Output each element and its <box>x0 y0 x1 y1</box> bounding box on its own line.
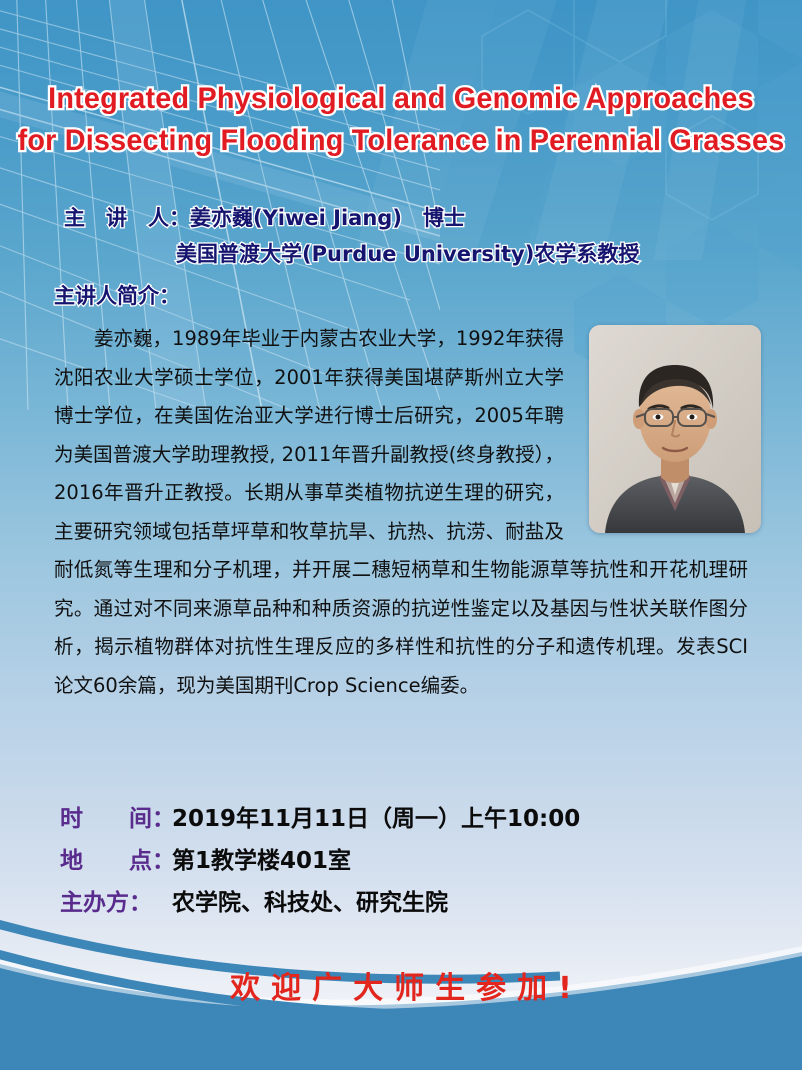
title-line-2: for Dissecting Flooding Tolerance in Per… <box>16 120 786 162</box>
portrait-text-wrap-spacer <box>576 324 748 532</box>
poster-title: Integrated Physiological and Genomic App… <box>0 78 802 162</box>
detail-value-organizer: 农学院、科技处、研究生院 <box>172 882 448 924</box>
speaker-affiliation: 美国普渡大学(Purdue University)农学系教授 <box>176 242 639 266</box>
title-line-1: Integrated Physiological and Genomic App… <box>16 78 786 120</box>
biography-paragraph: 姜亦巍，1989年毕业于内蒙古农业大学，1992年获得沈阳农业大学硕士学位，20… <box>54 320 748 705</box>
speaker-name: 姜亦巍(Yiwei Jiang) 博士 <box>190 206 465 230</box>
detail-row-time: 时 间： 2019年11月11日（周一）上午10:00 <box>60 798 760 840</box>
speaker-label: 主 讲 人： <box>64 206 190 230</box>
detail-value-location: 第1教学楼401室 <box>172 840 351 882</box>
detail-row-organizer: 主办方： 农学院、科技处、研究生院 <box>60 882 760 924</box>
detail-label-organizer: 主办方： <box>60 882 172 924</box>
bio-heading-row: 主讲人简介： <box>0 278 802 314</box>
detail-label-time: 时 间： <box>60 798 172 840</box>
detail-label-location: 地 点： <box>60 840 172 882</box>
hexagon-pattern-graphic <box>412 0 802 370</box>
seminar-poster: Integrated Physiological and Genomic App… <box>0 0 802 1070</box>
detail-value-time: 2019年11月11日（周一）上午10:00 <box>172 798 580 840</box>
welcome-banner: 欢迎广大师生参加! <box>0 963 802 1007</box>
event-details: 时 间： 2019年11月11日（周一）上午10:00 地 点： 第1教学楼40… <box>60 798 760 924</box>
speaker-header: 主 讲 人：姜亦巍(Yiwei Jiang) 博士 美国普渡大学(Purdue … <box>0 200 802 314</box>
detail-row-location: 地 点： 第1教学楼401室 <box>60 840 760 882</box>
speaker-name-row: 主 讲 人：姜亦巍(Yiwei Jiang) 博士 <box>0 200 802 236</box>
bio-heading: 主讲人简介： <box>54 284 180 308</box>
speaker-affiliation-row: 美国普渡大学(Purdue University)农学系教授 <box>0 236 802 272</box>
